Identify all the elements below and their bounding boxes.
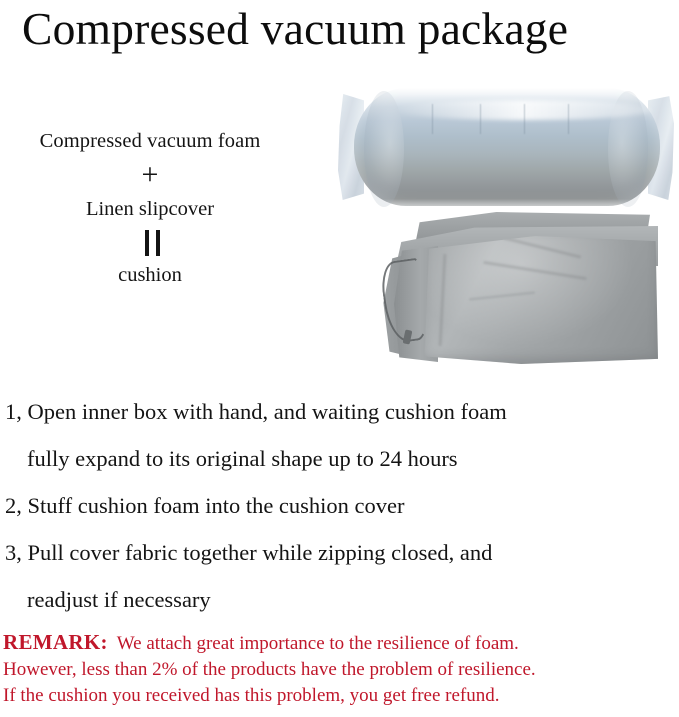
remark-block: REMARK:We attach great importance to the…	[3, 629, 679, 709]
step-1-line-2: fully expand to its original shape up to…	[0, 435, 679, 482]
ingredient-equation: Compressed vacuum foam + Linen slipcover…	[0, 128, 300, 288]
equation-result-cushion: cushion	[0, 262, 300, 288]
product-instruction-graphic: Compressed vacuum package Compressed vac…	[0, 0, 679, 717]
fabric-wrinkle	[438, 254, 446, 346]
fabric-wrinkle	[503, 237, 582, 259]
foam-cylinder	[354, 88, 660, 206]
fabric-wrinkle	[484, 261, 587, 280]
equals-icon-bar-left	[145, 230, 149, 256]
step-2-line-1: 2, Stuff cushion foam into the cushion c…	[0, 482, 679, 529]
equation-term-foam: Compressed vacuum foam	[0, 128, 300, 154]
wrap-crease	[524, 104, 525, 134]
instruction-step-2: 2, Stuff cushion foam into the cushion c…	[0, 482, 679, 529]
instruction-step-1: 1, Open inner box with hand, and waiting…	[0, 388, 679, 482]
remark-label: REMARK:	[3, 630, 117, 654]
fabric-wrinkle	[469, 291, 535, 300]
wrap-crease	[568, 104, 569, 134]
page-title: Compressed vacuum package	[22, 0, 656, 58]
instruction-step-3: 3, Pull cover fabric together while zipp…	[0, 529, 679, 623]
step-1-line-1: 1, Open inner box with hand, and waiting…	[0, 388, 679, 435]
wrap-crease	[480, 104, 481, 134]
step-3-line-2: readjust if necessary	[0, 576, 679, 623]
equals-icon	[0, 222, 300, 262]
compressed-foam-roll-photo	[338, 86, 674, 208]
equals-icon-bar-right	[156, 230, 160, 256]
wrap-crease	[432, 104, 433, 134]
plus-icon: +	[0, 154, 300, 196]
step-3-line-1: 3, Pull cover fabric together while zipp…	[0, 529, 679, 576]
instruction-steps: 1, Open inner box with hand, and waiting…	[0, 388, 679, 623]
remark-line-2: However, less than 2% of the products ha…	[3, 657, 679, 683]
linen-slipcover-photo	[382, 212, 674, 375]
equation-term-slipcover: Linen slipcover	[0, 196, 300, 222]
remark-line-3: If the cushion you received has this pro…	[3, 683, 679, 709]
fabric-fold-front	[422, 236, 658, 364]
remark-text-1: We attach great importance to the resili…	[117, 633, 519, 654]
remark-line-1: REMARK:We attach great importance to the…	[3, 629, 679, 657]
